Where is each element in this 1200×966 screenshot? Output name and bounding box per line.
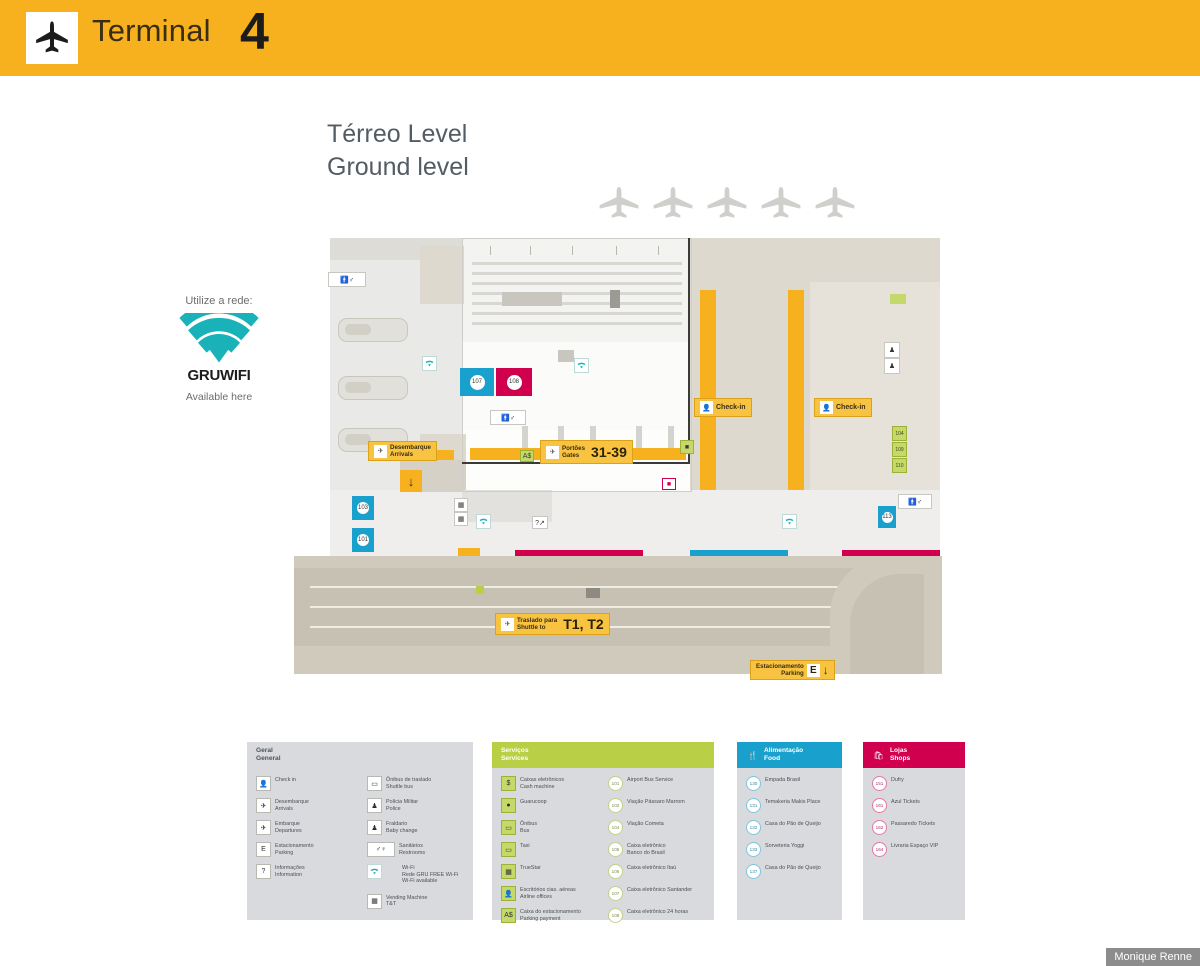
title-line-pt: Térreo Level xyxy=(327,118,757,151)
bus-icon: ▭ xyxy=(501,820,516,835)
legend-item: 132 Casa do Pão de Queijo xyxy=(746,820,838,835)
gates-range: 31-39 xyxy=(591,444,627,460)
legend-item: 105 Caixa eletrônicoBanco do Brasil xyxy=(608,842,712,857)
map-corridor-yellow-a xyxy=(700,290,716,490)
restrooms-icon: ♂♀ xyxy=(367,842,395,857)
legend-food-header: 🍴 Alimentação Food xyxy=(737,742,842,768)
legend-shops-title-en: Shops xyxy=(890,755,910,762)
shuttle-plane-icon: ✈ xyxy=(501,618,514,631)
legend-item-en: Airline offices xyxy=(520,894,576,901)
map-restrooms-icon: 🚹♂ xyxy=(490,410,526,425)
legend-item-text: Caixa eletrônico Santander xyxy=(627,886,692,894)
legend-item-en: Information xyxy=(275,872,305,879)
legend-item-text: Caixa eletrônico 24 horas xyxy=(627,908,688,916)
parking-level: E xyxy=(807,664,820,677)
legend-item-label: Casa do Pão de Queijo xyxy=(765,865,821,872)
legend-item-label: Azul Tickets xyxy=(891,799,920,806)
legend-item-number: 101 xyxy=(608,776,623,791)
map-jet-bridge xyxy=(338,318,408,342)
legend-item-pt: TrueStar xyxy=(520,865,541,872)
map-elevator-core xyxy=(610,290,620,308)
legend-item-number: 106 xyxy=(608,864,623,879)
map-gate-tick xyxy=(530,246,531,255)
legend-item: 161 Azul Tickets xyxy=(872,798,962,813)
legend-item-number: 133 xyxy=(746,842,761,857)
arrivals-label[interactable]: ✈ Desembarque Arrivals xyxy=(368,441,437,461)
legend-panel-general: Geral General 👤 Check in ✈ DesembarqueAr… xyxy=(247,742,473,920)
terminal-header: Terminal 4 xyxy=(0,0,1200,76)
legend-item-label: Caixa eletrônico 24 horas xyxy=(627,909,688,916)
legend-item: ● Guarucoop xyxy=(501,798,605,813)
legend-general-col2: ▭ Ônibus de trasladoShuttle bus ♟ Políci… xyxy=(367,776,467,916)
legend-item-pt: Estacionamento xyxy=(275,843,314,850)
terminal-floor-map[interactable]: 107 108 103 101 113 105 102 106 111 112 … xyxy=(290,238,942,678)
legend-food-items: 130 Empada Brasil 131 Temakeria Makis Pl… xyxy=(746,776,838,886)
map-service-marker[interactable]: 110 xyxy=(892,458,907,473)
legend-item-text: Empada Brasil xyxy=(765,776,800,784)
legend-item-text: Escritórios cias. aéreasAirline offices xyxy=(520,886,576,900)
legend-item-number: 131 xyxy=(746,798,761,813)
header-divider xyxy=(0,76,1200,80)
map-poi-number: 113 xyxy=(882,512,893,523)
map-bus-stop-marker xyxy=(476,586,484,594)
legend-item-en: Baby change xyxy=(386,828,417,835)
legend-item-text: Caixa eletrônico Itaú xyxy=(627,864,676,872)
map-poi-blue-1[interactable]: 107 xyxy=(460,368,494,396)
map-restrooms-icon: 🚹♂ xyxy=(328,272,366,287)
shuttle-label-text: Traslado para Shuttle to xyxy=(517,617,557,632)
legend-item-pt: Taxi xyxy=(520,843,530,850)
checkin-label-left[interactable]: 👤 Check-in xyxy=(694,398,752,417)
map-corridor-yellow-b xyxy=(788,290,804,490)
legend-item-number: 130 xyxy=(746,776,761,791)
shuttle-label-en: Shuttle to xyxy=(517,624,546,631)
map-column xyxy=(668,426,674,448)
legend-item: $ Caixas eletrônicosCash machine xyxy=(501,776,605,791)
legend-panel-food: 🍴 Alimentação Food 130 Empada Brasil 131… xyxy=(737,742,842,920)
legend-item-en2: Wi-Fi available xyxy=(402,878,458,885)
legend-item-pt: Embarque xyxy=(275,821,302,828)
legend-item-label: Empada Brasil xyxy=(765,777,800,784)
legend-item-number: 104 xyxy=(608,820,623,835)
legend-item-text: Polícia MilitarPolice xyxy=(386,798,418,812)
title-line-en: Ground level xyxy=(327,151,757,184)
map-poi-number: 107 xyxy=(470,375,485,390)
legend-item-text: Temakeria Makis Place xyxy=(765,798,820,806)
legend-item-text: Check in xyxy=(275,776,296,784)
legend-item-label: Viação Cometa xyxy=(627,821,664,828)
legend-general-title-pt: Geral xyxy=(256,747,273,754)
checkin-icon: 👤 xyxy=(700,401,713,414)
legend-item: A$ Caixa do estacionamentoParking paymen… xyxy=(501,908,605,923)
checkin-label-left-text: Check-in xyxy=(716,404,746,411)
legend-item-en: Bus xyxy=(520,828,537,835)
parking-arrow: ↓ xyxy=(823,663,829,677)
legend-item-en: Departures xyxy=(275,828,302,835)
legend-item-en: Parking payment xyxy=(520,916,581,923)
legend-item-text: Caixas eletrônicosCash machine xyxy=(520,776,564,790)
map-information-icon: ?↗ xyxy=(532,516,548,529)
legend-item-pt: Wi-Fi xyxy=(402,865,458,872)
legend-item-number: 108 xyxy=(608,908,623,923)
gates-label[interactable]: ✈ Portões Gates 31-39 xyxy=(540,440,633,464)
parking-label-en: Parking xyxy=(781,670,804,677)
cash-machine-icon: $ xyxy=(501,776,516,791)
map-poi-teal-1[interactable]: 103 xyxy=(352,496,374,520)
map-gate-tick xyxy=(616,246,617,255)
arrivals-icon: ✈ xyxy=(374,445,387,458)
map-wifi-icon xyxy=(782,514,797,529)
legend-item-en: T&T xyxy=(386,901,427,908)
arrivals-icon: ✈ xyxy=(256,798,271,813)
checkin-icon: 👤 xyxy=(820,401,833,414)
map-wifi-icon xyxy=(574,358,589,373)
legend-item: E EstacionamentoParking xyxy=(256,842,360,857)
legend-item-label: Sorveteria Yoggi xyxy=(765,843,804,850)
legend-item-en: Parking xyxy=(275,850,314,857)
map-service-marker[interactable]: 109 xyxy=(892,442,907,457)
legend-item: ▦ TrueStar xyxy=(501,864,605,879)
legend-general-header: Geral General xyxy=(247,742,473,768)
legend-item-en: Arrivals xyxy=(275,806,309,813)
legend-item-text: Sorveteria Yoggi xyxy=(765,842,804,850)
legend-item-text: Caixa do estacionamentoParking payment xyxy=(520,908,581,922)
map-jet-bridge xyxy=(338,376,408,400)
parking-label-text: Estacionamento Parking xyxy=(756,663,804,678)
map-baby-change-icon: ♟ xyxy=(884,342,900,358)
map-bus-shelter-icon xyxy=(586,588,600,598)
map-gate-tick xyxy=(658,246,659,255)
map-desk-row xyxy=(472,322,682,325)
legend-item-text: Passaredo Tickets xyxy=(891,820,935,828)
legend-services-title-en: Services xyxy=(501,755,528,762)
legend-item: 106 Caixa eletrônico Itaú xyxy=(608,864,712,879)
map-plate-tan-a xyxy=(420,246,464,304)
legend-item-number: 102 xyxy=(608,798,623,813)
legend-general-title-en: General xyxy=(256,755,281,762)
map-shop-icon: ■ xyxy=(662,478,676,490)
departures-icon: ✈ xyxy=(256,820,271,835)
legend-item-number: 162 xyxy=(872,820,887,835)
legend-item: 101 Airport Bus Service xyxy=(608,776,712,791)
legend-item: ▭ ÔnibusBus xyxy=(501,820,605,835)
legend-item-en: Cash machine xyxy=(520,784,564,791)
map-gate-tick xyxy=(572,246,573,255)
legend-item-text: Livraria Espaço VIP xyxy=(891,842,938,850)
map-column xyxy=(522,426,528,448)
legend-item-label: Passaredo Tickets xyxy=(891,821,935,828)
legend-item-text: TrueStar xyxy=(520,864,541,872)
legend-item-number: 107 xyxy=(608,886,623,901)
map-poi-crimson-1[interactable]: 108 xyxy=(496,368,532,396)
wifi-brand-wifi: WIFI xyxy=(220,367,250,384)
legend-item-pt: Guarucoop xyxy=(520,799,547,806)
shopping-bag-icon: 🛍 xyxy=(872,749,885,762)
shuttle-terminals: T1, T2 xyxy=(563,616,603,632)
map-poi-number: 101 xyxy=(357,534,369,546)
map-poi-number: 103 xyxy=(357,502,369,514)
legend-item-number: 132 xyxy=(746,820,761,835)
legend-item: ▭ Taxi xyxy=(501,842,605,857)
legend-shops-title: Lojas Shops xyxy=(890,747,910,763)
legend-item: ♟ FraldarioBaby change xyxy=(367,820,467,835)
wifi-available-text: Available here xyxy=(160,391,278,403)
information-icon: ? xyxy=(256,864,271,879)
legend-item: 162 Passaredo Tickets xyxy=(872,820,962,835)
plane-decor-row xyxy=(595,185,865,230)
arrivals-label-pt: Desembarque xyxy=(390,444,431,451)
legend-item-text: Wi-Fi Rede GRU FREE Wi-Fi Wi-Fi availabl… xyxy=(402,864,458,885)
legend-item-label: Temakeria Makis Place xyxy=(765,799,820,806)
map-arrow-down-a[interactable]: ↓ xyxy=(400,470,422,492)
legend-item-pt: Ônibus de traslado xyxy=(386,777,431,784)
map-poi-teal-3[interactable]: 113 xyxy=(878,506,896,528)
legend-item: ✈ DesembarqueArrivals xyxy=(256,798,360,813)
legend-item-text: Viação Cometa xyxy=(627,820,664,828)
terminal-word: Terminal xyxy=(92,13,211,49)
legend-item: 151 Dufry xyxy=(872,776,962,791)
map-wifi-icon xyxy=(476,514,491,529)
legend-item-label: Livraria Espaço VIP xyxy=(891,843,938,850)
legend-item-number: 105 xyxy=(608,842,623,857)
parking-label[interactable]: Estacionamento Parking E ↓ xyxy=(750,660,835,680)
map-desk-row xyxy=(472,282,682,285)
page-title: Térreo Level Ground level xyxy=(327,118,757,184)
map-green-strip xyxy=(890,294,906,304)
checkin-icon: 👤 xyxy=(256,776,271,791)
legend-panel-services: Serviços Services $ Caixas eletrônicosCa… xyxy=(492,742,714,920)
legend-item-en: Restrooms xyxy=(399,850,425,857)
watermark: Monique Renne xyxy=(1106,948,1200,966)
legend-item-label: Caixa eletrônico Itaú xyxy=(627,865,676,872)
gates-label-en: Gates xyxy=(562,452,579,459)
legend-item-text: Casa do Pão de Queijo xyxy=(765,820,821,828)
checkin-label-right[interactable]: 👤 Check-in xyxy=(814,398,872,417)
legend-item-text: Ônibus de trasladoShuttle bus xyxy=(386,776,431,790)
map-parking-payment-icon: A$ xyxy=(520,450,534,462)
legend-panel-shops: 🛍 Lojas Shops 151 Dufry 161 Azul Tickets… xyxy=(863,742,965,920)
map-gate-tick xyxy=(490,246,491,255)
legend-item-label2: Banco do Brasil xyxy=(627,850,666,857)
legend-item-label: Caixa eletrônico xyxy=(627,843,666,850)
legend-item-pt: Check in xyxy=(275,777,296,784)
truestar-icon: ▦ xyxy=(501,864,516,879)
taxi-icon: ▭ xyxy=(501,842,516,857)
map-services-icon: ■ xyxy=(680,440,694,454)
legend-services-header: Serviços Services xyxy=(492,742,714,768)
airplane-icon xyxy=(26,12,78,64)
legend-shops-header: 🛍 Lojas Shops xyxy=(863,742,965,768)
legend-item-text: Vending MachineT&T xyxy=(386,894,427,908)
map-column xyxy=(636,426,642,448)
shuttle-label-pt: Traslado para xyxy=(517,617,557,624)
legend-shops-items: 151 Dufry 161 Azul Tickets 162 Passaredo… xyxy=(872,776,962,864)
terminal-number: 4 xyxy=(240,2,269,62)
baby-change-icon: ♟ xyxy=(367,820,382,835)
legend-item-label: Airport Bus Service xyxy=(627,777,673,784)
legend-item-text: Caixa eletrônicoBanco do Brasil xyxy=(627,842,666,856)
legend-item: ✈ EmbarqueDepartures xyxy=(256,820,360,835)
wifi-icon xyxy=(367,864,382,879)
legend-item-pt: Informações xyxy=(275,865,305,872)
legend-item-text: Azul Tickets xyxy=(891,798,920,806)
legend-food-title: Alimentação Food xyxy=(764,747,803,763)
map-police-icon: ♟ xyxy=(884,358,900,374)
wifi-icon xyxy=(160,313,278,365)
legend-item: 137 Casa do Pão de Queijo xyxy=(746,864,838,879)
legend-item: 133 Sorveteria Yoggi xyxy=(746,842,838,857)
map-service-marker[interactable]: 104 xyxy=(892,426,907,441)
legend-item-text: ÔnibusBus xyxy=(520,820,537,834)
legend-shops-title-pt: Lojas xyxy=(890,747,907,754)
legend-item-en: Rede GRU FREE Wi-Fi xyxy=(402,872,458,879)
map-lane-line xyxy=(310,606,870,608)
legend-item-pt: Desembarque xyxy=(275,799,309,806)
legend-item: 164 Livraria Espaço VIP xyxy=(872,842,962,857)
map-kiosk xyxy=(558,350,574,362)
legend-item-en: Police xyxy=(386,806,418,813)
gates-label-text: Portões Gates xyxy=(562,445,585,460)
legend-item: 107 Caixa eletrônico Santander xyxy=(608,886,712,901)
map-poi-teal-2[interactable]: 101 xyxy=(352,528,374,552)
legend-item: 130 Empada Brasil xyxy=(746,776,838,791)
parking-label-pt: Estacionamento xyxy=(756,663,804,670)
wifi-brand: GRUWIFI xyxy=(160,367,278,384)
legend-item-text: DesembarqueArrivals xyxy=(275,798,309,812)
legend-item-label: Caixa eletrônico Santander xyxy=(627,887,692,894)
legend-item-pt: Ônibus xyxy=(520,821,537,828)
legend-item: 👤 Check in xyxy=(256,776,360,791)
arrivals-label-text: Desembarque Arrivals xyxy=(390,444,431,459)
legend-item: ▭ Ônibus de trasladoShuttle bus xyxy=(367,776,467,791)
airline-offices-icon: 👤 xyxy=(501,886,516,901)
legend-item-pt: Caixas eletrônicos xyxy=(520,777,564,784)
legend-food-title-en: Food xyxy=(764,755,780,762)
map-desk-row xyxy=(472,262,682,265)
legend-item: ▦ Vending MachineT&T xyxy=(367,894,467,909)
legend-general-title: Geral General xyxy=(256,747,281,763)
legend-item-text: Casa do Pão de Queijo xyxy=(765,864,821,872)
legend-item-number: 161 xyxy=(872,798,887,813)
legend-item: ? InformaçõesInformation xyxy=(256,864,360,879)
legend-services-title: Serviços Services xyxy=(501,747,529,763)
legend-item-number: 164 xyxy=(872,842,887,857)
wifi-brand-gru: GRU xyxy=(188,367,220,384)
guarucoop-icon: ● xyxy=(501,798,516,813)
departures-icon: ✈ xyxy=(546,446,559,459)
map-poi-number: 108 xyxy=(507,375,522,390)
legend-item-text: FraldarioBaby change xyxy=(386,820,417,834)
shuttle-label[interactable]: ✈ Traslado para Shuttle to T1, T2 xyxy=(495,613,610,635)
checkin-label-right-text: Check-in xyxy=(836,404,866,411)
legend-item: ♂♀ SanitáriosRestrooms xyxy=(367,842,467,857)
legend-item-text: SanitáriosRestrooms xyxy=(399,842,425,856)
legend-general-col1: 👤 Check in ✈ DesembarqueArrivals ✈ Embar… xyxy=(256,776,360,886)
map-counter-block xyxy=(502,292,562,306)
arrivals-label-en: Arrivals xyxy=(390,451,413,458)
legend-item: 104 Viação Cometa xyxy=(608,820,712,835)
legend-item-text: Taxi xyxy=(520,842,530,850)
legend-item-pt: Vending Machine xyxy=(386,895,427,902)
map-core-edge-right xyxy=(688,238,690,464)
shuttle-bus-icon: ▭ xyxy=(367,776,382,791)
vending-machine-icon: ▦ xyxy=(367,894,382,909)
legend-item-text: Viação Pássaro Marrom xyxy=(627,798,685,806)
parking-icon: E xyxy=(256,842,271,857)
legend-item-label: Viação Pássaro Marrom xyxy=(627,799,685,806)
parking-payment-icon: A$ xyxy=(501,908,516,923)
map-restrooms-icon: 🚹♂ xyxy=(898,494,932,509)
legend-item-label: Casa do Pão de Queijo xyxy=(765,821,821,828)
legend-item-pt: Fraldario xyxy=(386,821,417,828)
map-desk-row xyxy=(472,272,682,275)
map-vending-machine-icon: ▦ xyxy=(454,498,468,512)
legend-item-pt: Escritórios cias. aéreas xyxy=(520,887,576,894)
legend-item-pt: Caixa do estacionamento xyxy=(520,909,581,916)
legend-item-number: 151 xyxy=(872,776,887,791)
map-vending-machine-icon: ▦ xyxy=(454,512,468,526)
wifi-caption: Utilize a rede: xyxy=(160,295,278,307)
legend-item-pt: Sanitários xyxy=(399,843,425,850)
legend-item-text: EmbarqueDepartures xyxy=(275,820,302,834)
legend-services-col2: 101 Airport Bus Service 102 Viação Pássa… xyxy=(608,776,712,930)
legend-food-title-pt: Alimentação xyxy=(764,747,803,754)
gru-wifi-block: Utilize a rede: GRUWIFI Available here xyxy=(160,295,278,403)
legend-item-pt: Polícia Militar xyxy=(386,799,418,806)
legend-item: 131 Temakeria Makis Place xyxy=(746,798,838,813)
gates-label-pt: Portões xyxy=(562,445,585,452)
legend-item: 108 Caixa eletrônico 24 horas xyxy=(608,908,712,923)
legend-item-number: 137 xyxy=(746,864,761,879)
legend-item-text: Airport Bus Service xyxy=(627,776,673,784)
legend-item-label: Dufry xyxy=(891,777,904,784)
legend-services-col1: $ Caixas eletrônicosCash machine ● Guaru… xyxy=(501,776,605,930)
map-desk-row xyxy=(472,312,682,315)
legend-item-en: Shuttle bus xyxy=(386,784,431,791)
legend-item-text: Guarucoop xyxy=(520,798,547,806)
legend-item-text: InformaçõesInformation xyxy=(275,864,305,878)
legend-item: 102 Viação Pássaro Marrom xyxy=(608,798,712,813)
legend-item: Wi-Fi Rede GRU FREE Wi-Fi Wi-Fi availabl… xyxy=(367,864,467,885)
legend-item: 👤 Escritórios cias. aéreasAirline office… xyxy=(501,886,605,901)
legend-services-title-pt: Serviços xyxy=(501,747,529,754)
legend-item: ♟ Polícia MilitarPolice xyxy=(367,798,467,813)
legend-item-text: EstacionamentoParking xyxy=(275,842,314,856)
legend-item-text: Dufry xyxy=(891,776,904,784)
cutlery-icon: 🍴 xyxy=(746,749,759,762)
police-icon: ♟ xyxy=(367,798,382,813)
map-wifi-icon xyxy=(422,356,437,371)
